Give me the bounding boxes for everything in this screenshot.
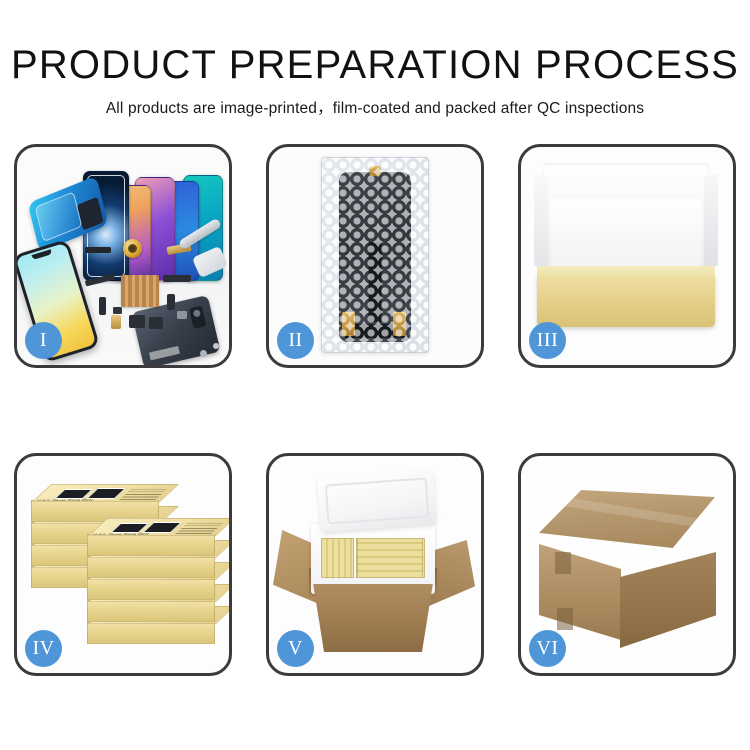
- flex-cable-icon: [167, 294, 175, 310]
- process-step-4[interactable]: Mobile Phone Spare Parts Mobile Phone Sp…: [14, 453, 232, 676]
- spare-part-icon: [177, 311, 187, 319]
- carton-front-panel: [305, 584, 441, 652]
- chip-grid-icon: [121, 275, 159, 307]
- gold-contact-icon: [342, 312, 355, 336]
- step-badge-3: III: [529, 322, 566, 359]
- gold-contact-icon: [111, 315, 121, 329]
- camera-module-icon: [189, 306, 206, 329]
- flex-cable-icon: [99, 297, 106, 315]
- kraft-box: [87, 556, 215, 578]
- kraft-box: [87, 622, 215, 644]
- gold-contact-icon: [393, 312, 406, 336]
- bubble-wrap-bag: [321, 157, 429, 353]
- step-badge-2: II: [277, 322, 314, 359]
- cover-label: [149, 346, 180, 361]
- kraft-box: [87, 578, 215, 600]
- packing-tape-icon: [555, 552, 571, 574]
- box-spec-lines: [175, 521, 225, 534]
- spare-part-icon: [113, 307, 122, 314]
- kraft-box: [87, 600, 215, 622]
- step-badge-1: I: [25, 322, 62, 359]
- process-step-2[interactable]: II: [266, 144, 484, 368]
- carton-right-face: [620, 552, 716, 648]
- kraft-tray: [537, 275, 715, 327]
- page-subtitle: All products are image-printed，film-coat…: [0, 99, 750, 119]
- carton-left-face: [539, 544, 621, 640]
- product-preparation-infographic: PRODUCT PREPARATION PROCESS All products…: [0, 0, 750, 750]
- kraft-box-stack: Mobile Phone Spare Parts Mobile Phone Sp…: [25, 470, 225, 660]
- kraft-boxes-stacked: [357, 538, 423, 578]
- step-badge-6: VI: [529, 630, 566, 667]
- foam-box-lid: [317, 470, 436, 532]
- process-step-6[interactable]: VI: [518, 453, 736, 676]
- flex-cable-icon: [163, 275, 191, 282]
- flex-cable-icon: [369, 242, 382, 322]
- process-step-3[interactable]: III: [518, 144, 736, 368]
- kraft-box-row: [321, 538, 354, 578]
- gold-contact-icon: [370, 166, 381, 176]
- small-module-icon: [129, 315, 145, 328]
- header: PRODUCT PREPARATION PROCESS All products…: [0, 0, 750, 119]
- film-chip-icon: [77, 197, 104, 231]
- process-step-grid: I II: [14, 144, 736, 676]
- white-foam-sheet: [551, 199, 701, 271]
- box-top-printed: Mobile Phone Spare Parts: [88, 518, 229, 536]
- process-step-1[interactable]: I: [14, 144, 232, 368]
- process-step-5[interactable]: V: [266, 453, 484, 676]
- screw-icon: [213, 343, 219, 349]
- box-top-printed: Mobile Phone Spare Parts: [32, 484, 179, 502]
- packing-tape-icon: [557, 608, 573, 630]
- page-title: PRODUCT PREPARATION PROCESS: [0, 42, 750, 88]
- step-badge-4: IV: [25, 630, 62, 667]
- kraft-box-printed: Mobile Phone Spare Parts: [87, 534, 215, 556]
- box-spec-lines: [119, 487, 169, 500]
- connector-bar-icon: [85, 247, 111, 253]
- screw-icon: [200, 350, 207, 357]
- row-gap-spacer: [14, 368, 736, 453]
- small-module-icon: [149, 317, 163, 329]
- copper-coil-icon: [123, 239, 142, 258]
- step-badge-5: V: [277, 630, 314, 667]
